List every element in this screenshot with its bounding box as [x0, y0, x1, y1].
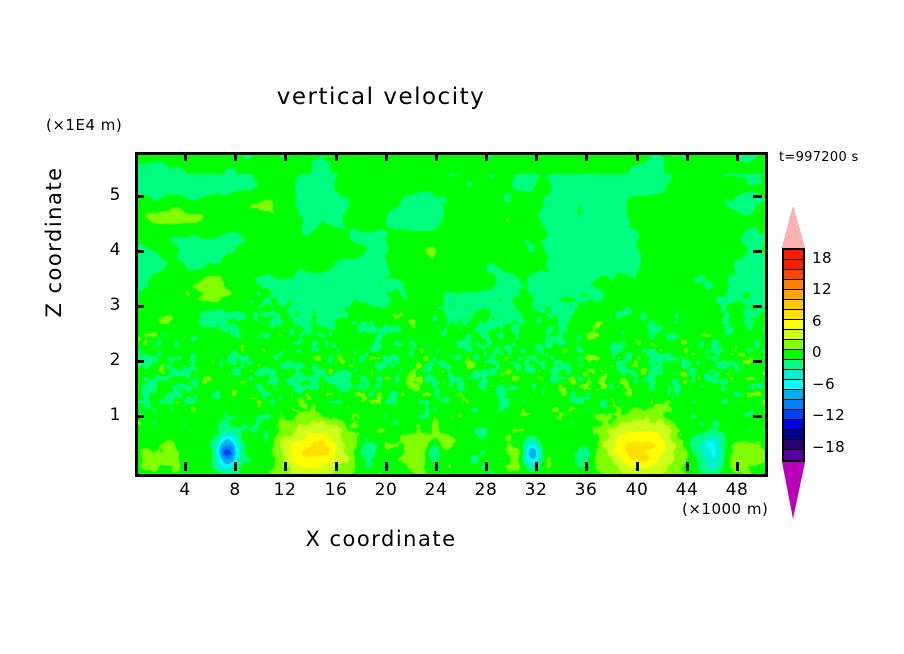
x-tick-bottom	[535, 462, 538, 471]
x-tick-bottom	[686, 462, 689, 471]
colorbar-band	[784, 420, 803, 430]
x-tick-bottom	[636, 462, 639, 471]
colorbar-over-arrow	[782, 207, 805, 248]
x-tick-bottom	[284, 462, 287, 471]
x-tick-label: 36	[563, 480, 609, 500]
x-tick-bottom	[736, 462, 739, 471]
x-tick-label: 40	[614, 480, 660, 500]
time-annotation: t=997200 s	[779, 150, 859, 165]
x-tick-top	[485, 152, 488, 161]
heatmap-canvas	[138, 155, 765, 474]
x-tick-top	[535, 152, 538, 161]
x-tick-label: 16	[313, 480, 359, 500]
colorbar-band	[784, 310, 803, 320]
x-tick-top	[636, 152, 639, 161]
colorbar-band	[784, 430, 803, 440]
y-tick-right	[753, 360, 762, 363]
colorbar-band	[784, 260, 803, 270]
colorbar-band	[784, 450, 803, 460]
plot-area	[135, 152, 768, 477]
colorbar-band	[784, 370, 803, 380]
colorbar-under-arrow	[782, 462, 805, 519]
colorbar-band	[784, 250, 803, 260]
colorbar-band	[784, 290, 803, 300]
colorbar-tick-label: −6	[812, 375, 835, 393]
colorbar-band	[784, 280, 803, 290]
x-tick-label: 44	[664, 480, 710, 500]
colorbar-band	[784, 440, 803, 450]
y-tick-left	[135, 250, 144, 253]
page-title: vertical velocity	[0, 84, 762, 110]
y-tick-label: 3	[87, 295, 121, 315]
colorbar-tick-label: 12	[812, 280, 832, 298]
x-tick-bottom	[585, 462, 588, 471]
x-tick-top	[184, 152, 187, 161]
x-axis-title: X coordinate	[0, 527, 762, 551]
y-tick-right	[753, 250, 762, 253]
x-tick-top	[686, 152, 689, 161]
colorbar-band	[784, 340, 803, 350]
x-tick-bottom	[435, 462, 438, 471]
colorbar-tick-label: 0	[812, 343, 822, 361]
y-tick-label: 5	[87, 185, 121, 205]
y-tick-label: 4	[87, 240, 121, 260]
x-tick-top	[585, 152, 588, 161]
x-tick-bottom	[234, 462, 237, 471]
x-tick-bottom	[335, 462, 338, 471]
x-tick-label: 4	[162, 480, 208, 500]
x-tick-top	[385, 152, 388, 161]
x-axis-unit-label: (×1000 m)	[682, 500, 768, 518]
colorbar-band	[784, 360, 803, 370]
y-tick-left	[135, 195, 144, 198]
x-tick-top	[335, 152, 338, 161]
colorbar-band	[784, 270, 803, 280]
x-tick-label: 20	[363, 480, 409, 500]
x-tick-label: 28	[463, 480, 509, 500]
colorbar-band	[784, 320, 803, 330]
y-tick-right	[753, 305, 762, 308]
y-tick-right	[753, 195, 762, 198]
x-tick-label: 32	[513, 480, 559, 500]
x-tick-bottom	[485, 462, 488, 471]
colorbar-band	[784, 300, 803, 310]
colorbar-band	[784, 410, 803, 420]
colorbar-band	[784, 390, 803, 400]
x-tick-label: 48	[714, 480, 760, 500]
x-tick-bottom	[385, 462, 388, 471]
colorbar-band	[784, 400, 803, 410]
y-tick-left	[135, 305, 144, 308]
colorbar-tick-label: 18	[812, 249, 832, 267]
colorbar-band	[784, 380, 803, 390]
colorbar-tick-label: 6	[812, 312, 822, 330]
x-tick-label: 8	[212, 480, 258, 500]
colorbar-tick-label: −12	[812, 406, 845, 424]
colorbar-band	[784, 350, 803, 360]
y-axis-title: Z coordinate	[42, 157, 66, 327]
x-tick-label: 12	[262, 480, 308, 500]
x-tick-top	[284, 152, 287, 161]
colorbar-band	[784, 330, 803, 340]
y-tick-left	[135, 360, 144, 363]
y-tick-label: 1	[87, 405, 121, 425]
y-tick-left	[135, 415, 144, 418]
y-tick-label: 2	[87, 350, 121, 370]
x-tick-label: 24	[413, 480, 459, 500]
colorbar[interactable]	[782, 248, 805, 462]
y-tick-right	[753, 415, 762, 418]
colorbar-tick-label: −18	[812, 438, 845, 456]
y-axis-unit-label: (×1E4 m)	[46, 116, 122, 134]
x-tick-top	[736, 152, 739, 161]
x-tick-bottom	[184, 462, 187, 471]
x-tick-top	[435, 152, 438, 161]
x-tick-top	[234, 152, 237, 161]
